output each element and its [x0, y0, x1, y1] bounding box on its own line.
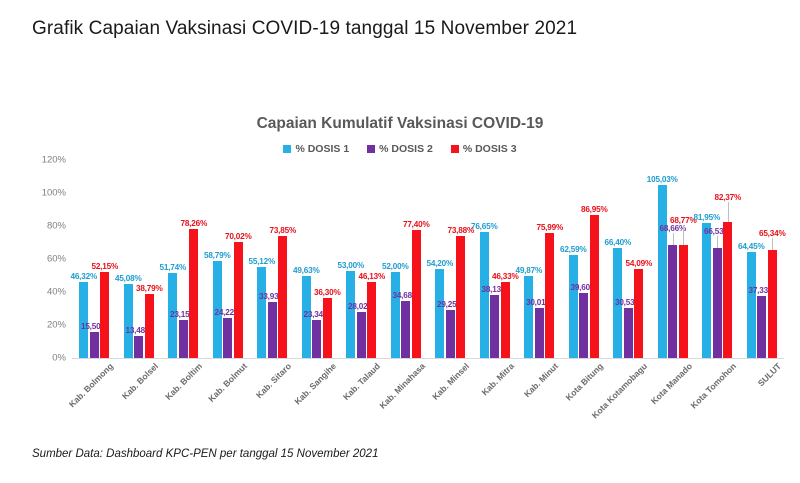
bar-value-label: 62,59%: [560, 245, 587, 254]
bar-value-label: 78,26%: [180, 219, 207, 228]
bar-value-label: 46,13%: [358, 272, 385, 281]
bar-group-inner: 49,63%23,34%36,30%: [295, 160, 340, 358]
bar-group-inner: 55,12%33,93%73,85%: [250, 160, 295, 358]
bar-group: 54,20%29,25%73,88%: [428, 160, 473, 358]
bar-3[interactable]: 75,99%: [545, 233, 554, 358]
bar-value-label: 53,00%: [337, 261, 364, 270]
bar-3[interactable]: 52,15%: [100, 272, 109, 358]
bar-1[interactable]: 64,45%: [747, 252, 756, 358]
y-axis-tick: 40%: [47, 287, 66, 298]
label-leader-line: [772, 238, 773, 250]
bar-value-label: 54,09%: [625, 259, 652, 268]
bar-2[interactable]: 15,50%: [90, 332, 99, 358]
bar-group: 105,03%68,66%68,77%: [651, 160, 696, 358]
source-note: Sumber Data: Dashboard KPC-PEN per tangg…: [32, 448, 378, 460]
bar-1[interactable]: 105,03%: [658, 185, 667, 358]
legend-label-dosis-2: % DOSIS 2: [379, 143, 433, 155]
bar-value-label: 49,63%: [293, 266, 320, 275]
bar-value-label: 45,08%: [115, 274, 142, 283]
bar-1[interactable]: 55,12%: [257, 267, 266, 358]
bar-value-label: 86,95%: [581, 205, 608, 214]
bar-group: 76,65%38,13%46,33%: [473, 160, 518, 358]
bar-value-label: 36,30%: [314, 288, 341, 297]
bar-group-inner: 64,45%37,33%65,34%: [740, 160, 785, 358]
bar-1[interactable]: 45,08%: [124, 284, 133, 358]
bar-1[interactable]: 49,87%: [524, 276, 533, 358]
bar-group-inner: 81,95%66,53%82,37%: [695, 160, 740, 358]
bar-1[interactable]: 53,00%: [346, 271, 355, 358]
bar-2[interactable]: 37,33%: [757, 296, 766, 358]
bar-group-inner: 66,40%30,53%54,09%: [606, 160, 651, 358]
x-axis-label: Kab. Talaud: [341, 361, 382, 402]
chart-container: Capaian Kumulatif Vaksinasi COVID-19 % D…: [0, 105, 800, 435]
bar-group: 45,08%13,48%38,79%: [117, 160, 162, 358]
bar-group: 53,00%28,02%46,13%: [339, 160, 384, 358]
bar-value-label: 65,34%: [759, 229, 786, 238]
bar-value-label: 55,12%: [248, 257, 275, 266]
bar-group: 64,45%37,33%65,34%: [740, 160, 785, 358]
bar-2[interactable]: 30,53%: [624, 308, 633, 358]
bar-value-label: 68,66%: [659, 224, 686, 233]
bar-2[interactable]: 34,68%: [401, 301, 410, 358]
bar-2[interactable]: 30,01%: [535, 308, 544, 358]
label-leader-line: [717, 236, 718, 248]
x-axis-label: Kota Bitung: [563, 361, 605, 403]
y-axis-tick: 80%: [47, 221, 66, 232]
bar-3[interactable]: 73,88%: [456, 236, 465, 358]
bar-2[interactable]: 29,25%: [446, 310, 455, 358]
bar-value-label: 54,20%: [426, 259, 453, 268]
bar-group: 49,87%30,01%75,99%: [517, 160, 562, 358]
bar-group-inner: 53,00%28,02%46,13%: [339, 160, 384, 358]
y-axis-tick: 0%: [52, 353, 66, 364]
bar-group-inner: 105,03%68,66%68,77%: [651, 160, 696, 358]
x-axis-label: Kab. Sangihe: [292, 361, 338, 407]
x-axis-label: Kab. Minahasa: [377, 361, 427, 411]
bar-3[interactable]: 82,37%: [723, 222, 732, 358]
x-axis-label: Kab. Minsel: [430, 361, 471, 402]
bar-3[interactable]: 38,79%: [145, 294, 154, 358]
bar-group-inner: 52,00%34,68%77,40%: [384, 160, 429, 358]
bar-1[interactable]: 81,95%: [702, 223, 711, 358]
bar-1[interactable]: 54,20%: [435, 269, 444, 358]
x-axis-label: Kab. Minut: [522, 361, 560, 399]
bar-group: 62,59%39,60%86,95%: [562, 160, 607, 358]
x-axis-label: Kab. Boltim: [163, 361, 204, 402]
bar-value-label: 49,87%: [515, 266, 542, 275]
bar-2[interactable]: 28,02%: [357, 312, 366, 358]
bar-group-inner: 45,08%13,48%38,79%: [117, 160, 162, 358]
bar-value-label: 82,37%: [714, 193, 741, 202]
legend-item-dosis-2[interactable]: % DOSIS 2: [367, 143, 433, 155]
bar-3[interactable]: 46,33%: [501, 282, 510, 358]
bar-value-label: 76,65%: [471, 222, 498, 231]
bar-3[interactable]: 77,40%: [412, 230, 421, 358]
bar-2[interactable]: 39,60%: [579, 293, 588, 358]
x-axis-label: Kota Tomohon: [689, 361, 738, 410]
bar-3[interactable]: 46,13%: [367, 282, 376, 358]
x-axis-label: Kab. Bolsel: [120, 361, 160, 401]
bar-3[interactable]: 73,85%: [278, 236, 287, 358]
y-axis-tick: 20%: [47, 320, 66, 331]
bar-group: 55,12%33,93%73,85%: [250, 160, 295, 358]
bar-group: 58,79%24,22%70,02%: [206, 160, 251, 358]
bar-2[interactable]: 33,93%: [268, 302, 277, 358]
bar-group-inner: 62,59%39,60%86,95%: [562, 160, 607, 358]
bar-3[interactable]: 54,09%: [634, 269, 643, 358]
bar-group-inner: 49,87%30,01%75,99%: [517, 160, 562, 358]
bar-3[interactable]: 68,77%: [679, 245, 688, 358]
bar-value-label: 52,15%: [91, 262, 118, 271]
bar-1[interactable]: 62,59%: [569, 255, 578, 358]
bar-2[interactable]: 13,48%: [134, 336, 143, 358]
bar-value-label: 75,99%: [536, 223, 563, 232]
legend-swatch-dosis-2: [367, 145, 375, 153]
x-axis-label: SULUT: [755, 361, 782, 388]
bar-1[interactable]: 52,00%: [391, 272, 400, 358]
legend-item-dosis-1[interactable]: % DOSIS 1: [283, 143, 349, 155]
label-leader-line: [673, 233, 674, 245]
bar-value-label: 58,79%: [204, 251, 231, 260]
label-leader-line: [728, 202, 729, 222]
bar-group-inner: 46,32%15,50%52,15%: [72, 160, 117, 358]
x-axis-label: Kab. Bolmut: [206, 361, 249, 404]
x-axis-label: Kab. Sitaro: [254, 361, 293, 400]
bar-group-inner: 51,74%23,15%78,26%: [161, 160, 206, 358]
bar-2[interactable]: 23,34%: [312, 320, 321, 359]
x-axis-label: Kab. Bolmong: [67, 361, 115, 409]
bar-group: 51,74%23,15%78,26%: [161, 160, 206, 358]
bar-1[interactable]: 46,32%: [79, 282, 88, 358]
bar-group: 66,40%30,53%54,09%: [606, 160, 651, 358]
legend-swatch-dosis-3: [451, 145, 459, 153]
x-axis-label: Kota Manado: [649, 361, 694, 406]
bar-3[interactable]: 86,95%: [590, 215, 599, 358]
page-title: Grafik Capaian Vaksinasi COVID-19 tangga…: [32, 18, 577, 40]
bar-group: 81,95%66,53%82,37%: [695, 160, 740, 358]
bar-group: 49,63%23,34%36,30%: [295, 160, 340, 358]
bar-group-inner: 76,65%38,13%46,33%: [473, 160, 518, 358]
bar-group: 46,32%15,50%52,15%: [72, 160, 117, 358]
bar-value-label: 51,74%: [159, 263, 186, 272]
y-axis-tick: 100%: [42, 188, 66, 199]
legend-label-dosis-3: % DOSIS 3: [463, 143, 517, 155]
bar-value-label: 105,03%: [647, 175, 678, 184]
chart-title: Capaian Kumulatif Vaksinasi COVID-19: [0, 115, 800, 133]
bar-3[interactable]: 70,02%: [234, 242, 243, 358]
bar-2[interactable]: 23,15%: [179, 320, 188, 358]
chart-legend: % DOSIS 1 % DOSIS 2 % DOSIS 3: [0, 143, 800, 155]
bar-3[interactable]: 78,26%: [189, 229, 198, 358]
x-axis-label: Kab. Mitra: [479, 361, 515, 397]
bar-value-label: 46,32%: [70, 272, 97, 281]
y-axis-tick: 60%: [47, 254, 66, 265]
y-axis-tick: 120%: [42, 155, 66, 166]
legend-item-dosis-3[interactable]: % DOSIS 3: [451, 143, 517, 155]
bar-2[interactable]: 38,13%: [490, 295, 499, 358]
bar-group-inner: 54,20%29,25%73,88%: [428, 160, 473, 358]
bar-2[interactable]: 68,66%: [668, 245, 677, 358]
legend-swatch-dosis-1: [283, 145, 291, 153]
bar-3[interactable]: 36,30%: [323, 298, 332, 358]
bar-value-label: 73,85%: [269, 226, 296, 235]
x-axis-line: [72, 358, 784, 359]
bar-2[interactable]: 24,22%: [223, 318, 232, 358]
label-leader-line: [683, 225, 684, 245]
bar-1[interactable]: 76,65%: [480, 232, 489, 358]
bar-value-label: 38,79%: [136, 284, 163, 293]
legend-label-dosis-1: % DOSIS 1: [295, 143, 349, 155]
x-axis-labels: Kab. BolmongKab. BolselKab. BoltimKab. B…: [72, 361, 784, 435]
plot-area: 46,32%15,50%52,15%45,08%13,48%38,79%51,7…: [72, 160, 784, 358]
bar-value-label: 52,00%: [382, 262, 409, 271]
bar-value-label: 70,02%: [225, 232, 252, 241]
bar-3[interactable]: 65,34%: [768, 250, 777, 358]
y-axis: 120%100%80%60%40%20%0%: [0, 160, 72, 358]
bar-value-label: 66,40%: [604, 238, 631, 247]
bar-group: 52,00%34,68%77,40%: [384, 160, 429, 358]
bar-value-label: 64,45%: [738, 242, 765, 251]
bar-value-label: 77,40%: [403, 220, 430, 229]
bar-group-inner: 58,79%24,22%70,02%: [206, 160, 251, 358]
bar-value-label: 81,95%: [693, 213, 720, 222]
bar-2[interactable]: 66,53%: [713, 248, 722, 358]
